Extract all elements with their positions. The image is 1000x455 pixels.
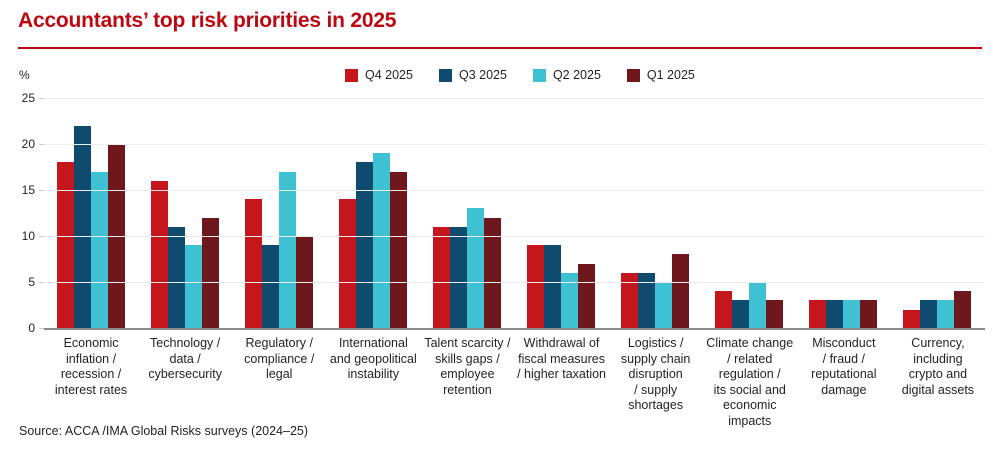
bar-group: [715, 98, 785, 328]
x-axis-category-label: Talent scarcity /skills gaps /employeere…: [414, 336, 520, 398]
bar[interactable]: [826, 300, 843, 328]
x-axis-category-line: and geopolitical: [320, 352, 426, 368]
x-axis-category-line: inflation /: [38, 352, 144, 368]
bar[interactable]: [91, 172, 108, 328]
x-axis-category-line: Talent scarcity /: [414, 336, 520, 352]
bar[interactable]: [433, 227, 450, 328]
bar[interactable]: [672, 254, 689, 328]
bar-group-bars: [339, 98, 409, 328]
bar[interactable]: [843, 300, 860, 328]
y-axis-tick-mark: [39, 282, 44, 283]
bar[interactable]: [185, 245, 202, 328]
title-divider: [18, 47, 982, 49]
x-axis-category-line: Regulatory /: [226, 336, 332, 352]
y-axis-tick-mark: [39, 236, 44, 237]
bar[interactable]: [766, 300, 783, 328]
bar[interactable]: [202, 218, 219, 328]
x-axis-category-label: Technology /data /cybersecurity: [132, 336, 238, 383]
x-axis-category-line: International: [320, 336, 426, 352]
bar[interactable]: [373, 153, 390, 328]
x-axis-category-label: Currency,includingcrypto anddigital asse…: [885, 336, 991, 398]
bar-group-bars: [57, 98, 127, 328]
legend-swatch-icon: [345, 69, 358, 82]
bar[interactable]: [903, 310, 920, 328]
x-axis-category-line: Economic: [38, 336, 144, 352]
bar[interactable]: [467, 208, 484, 328]
x-axis-category-line: Misconduct: [791, 336, 897, 352]
x-axis-category-line: crypto and: [885, 367, 991, 383]
x-axis-category-line: recession /: [38, 367, 144, 383]
legend-item-q2-2025[interactable]: Q2 2025: [533, 68, 601, 82]
x-axis-category-line: / higher taxation: [509, 367, 615, 383]
bar-group: [433, 98, 503, 328]
x-axis-category-line: impacts: [697, 414, 803, 430]
x-axis-category-line: shortages: [603, 398, 709, 414]
x-axis-category-line: data /: [132, 352, 238, 368]
y-axis-tick-mark: [39, 328, 44, 329]
x-axis-category-label: Economicinflation /recession /interest r…: [38, 336, 144, 398]
bar[interactable]: [450, 227, 467, 328]
x-axis-category-line: supply chain: [603, 352, 709, 368]
x-axis-category-line: its social and: [697, 383, 803, 399]
bar[interactable]: [715, 291, 732, 328]
bar-group-bars: [903, 98, 973, 328]
bar[interactable]: [578, 264, 595, 328]
bar-group: [527, 98, 597, 328]
x-axis-category-label: Regulatory /compliance /legal: [226, 336, 332, 383]
legend-label: Q2 2025: [553, 68, 601, 82]
bar-group: [809, 98, 879, 328]
x-axis-category-label: Withdrawal offiscal measures/ higher tax…: [509, 336, 615, 383]
x-axis-category-line: skills gaps /: [414, 352, 520, 368]
bar-group-bars: [809, 98, 879, 328]
x-axis-category-line: Technology /: [132, 336, 238, 352]
legend-swatch-icon: [627, 69, 640, 82]
x-axis-category-line: retention: [414, 383, 520, 399]
y-axis-tick-label: 25: [22, 91, 35, 105]
bar[interactable]: [168, 227, 185, 328]
page-title: Accountants’ top risk priorities in 2025: [18, 9, 396, 33]
bar-group-bars: [621, 98, 691, 328]
bar[interactable]: [544, 245, 561, 328]
x-axis-category-line: digital assets: [885, 383, 991, 399]
legend-swatch-icon: [533, 69, 546, 82]
x-axis-category-line: legal: [226, 367, 332, 383]
x-axis-category-label: Logistics /supply chaindisruption/ suppl…: [603, 336, 709, 414]
bar[interactable]: [937, 300, 954, 328]
bar[interactable]: [732, 300, 749, 328]
x-axis-category-label: Internationaland geopoliticalinstability: [320, 336, 426, 383]
bar[interactable]: [809, 300, 826, 328]
x-axis-category-line: instability: [320, 367, 426, 383]
bar[interactable]: [339, 199, 356, 328]
x-axis-category-label: Climate change/ relatedregulation /its s…: [697, 336, 803, 429]
bar-group: [903, 98, 973, 328]
bar[interactable]: [655, 282, 672, 328]
x-axis-category-line: including: [885, 352, 991, 368]
gridline: [44, 190, 985, 191]
bar-group-bars: [151, 98, 221, 328]
y-axis-tick-mark: [39, 144, 44, 145]
bar[interactable]: [484, 218, 501, 328]
bar-group-bars: [715, 98, 785, 328]
bar[interactable]: [74, 126, 91, 328]
legend-label: Q3 2025: [459, 68, 507, 82]
x-axis-category-label: Misconduct/ fraud /reputationaldamage: [791, 336, 897, 398]
bar-group: [621, 98, 691, 328]
x-axis-baseline: [44, 328, 985, 330]
x-axis-category-line: disruption: [603, 367, 709, 383]
bar[interactable]: [57, 162, 74, 328]
legend-item-q4-2025[interactable]: Q4 2025: [345, 68, 413, 82]
bar[interactable]: [749, 282, 766, 328]
gridline: [44, 282, 985, 283]
x-axis-category-line: cybersecurity: [132, 367, 238, 383]
bar-group: [57, 98, 127, 328]
bar-group: [245, 98, 315, 328]
legend-label: Q4 2025: [365, 68, 413, 82]
x-axis-category-line: / related: [697, 352, 803, 368]
bar[interactable]: [527, 245, 544, 328]
x-axis-category-line: employee: [414, 367, 520, 383]
bar[interactable]: [954, 291, 971, 328]
gridline: [44, 236, 985, 237]
bar[interactable]: [279, 172, 296, 328]
x-axis-category-line: / fraud /: [791, 352, 897, 368]
legend-swatch-icon: [439, 69, 452, 82]
x-axis-category-line: Withdrawal of: [509, 336, 615, 352]
y-axis-unit-label: %: [19, 68, 30, 82]
bar-group-bars: [245, 98, 315, 328]
x-axis-category-line: Climate change: [697, 336, 803, 352]
bar[interactable]: [245, 199, 262, 328]
x-axis-category-line: Logistics /: [603, 336, 709, 352]
x-axis-category-line: fiscal measures: [509, 352, 615, 368]
bar[interactable]: [860, 300, 877, 328]
y-axis-tick-label: 20: [22, 137, 35, 151]
bar-groups: [44, 98, 985, 328]
x-axis-category-line: / supply: [603, 383, 709, 399]
x-axis-labels: Economicinflation /recession /interest r…: [44, 336, 985, 426]
bar-group-bars: [433, 98, 503, 328]
bar-group: [339, 98, 409, 328]
y-axis-tick-label: 15: [22, 183, 35, 197]
x-axis-category-line: reputational: [791, 367, 897, 383]
bar[interactable]: [151, 181, 168, 328]
x-axis-category-line: compliance /: [226, 352, 332, 368]
bar[interactable]: [920, 300, 937, 328]
x-axis-category-line: economic: [697, 398, 803, 414]
y-axis-tick-mark: [39, 98, 44, 99]
y-axis-tick-label: 5: [28, 275, 35, 289]
bar[interactable]: [262, 245, 279, 328]
gridline: [44, 98, 985, 99]
y-axis-tick-label: 0: [28, 321, 35, 335]
bar-group-bars: [527, 98, 597, 328]
x-axis-category-line: Currency,: [885, 336, 991, 352]
source-note: Source: ACCA /IMA Global Risks surveys (…: [19, 424, 308, 438]
y-axis-tick-label: 10: [22, 229, 35, 243]
chart-page: Accountants’ top risk priorities in 2025…: [0, 0, 1000, 455]
x-axis-category-line: regulation /: [697, 367, 803, 383]
bar[interactable]: [390, 172, 407, 328]
bar[interactable]: [356, 162, 373, 328]
legend-item-q3-2025[interactable]: Q3 2025: [439, 68, 507, 82]
gridline: [44, 144, 985, 145]
y-axis-tick-mark: [39, 190, 44, 191]
legend-label: Q1 2025: [647, 68, 695, 82]
x-axis-category-line: damage: [791, 383, 897, 399]
bar-group: [151, 98, 221, 328]
plot-area: 0510152025: [44, 98, 985, 328]
chart-legend: Q4 2025Q3 2025Q2 2025Q1 2025: [345, 68, 695, 82]
legend-item-q1-2025[interactable]: Q1 2025: [627, 68, 695, 82]
x-axis-category-line: interest rates: [38, 383, 144, 399]
